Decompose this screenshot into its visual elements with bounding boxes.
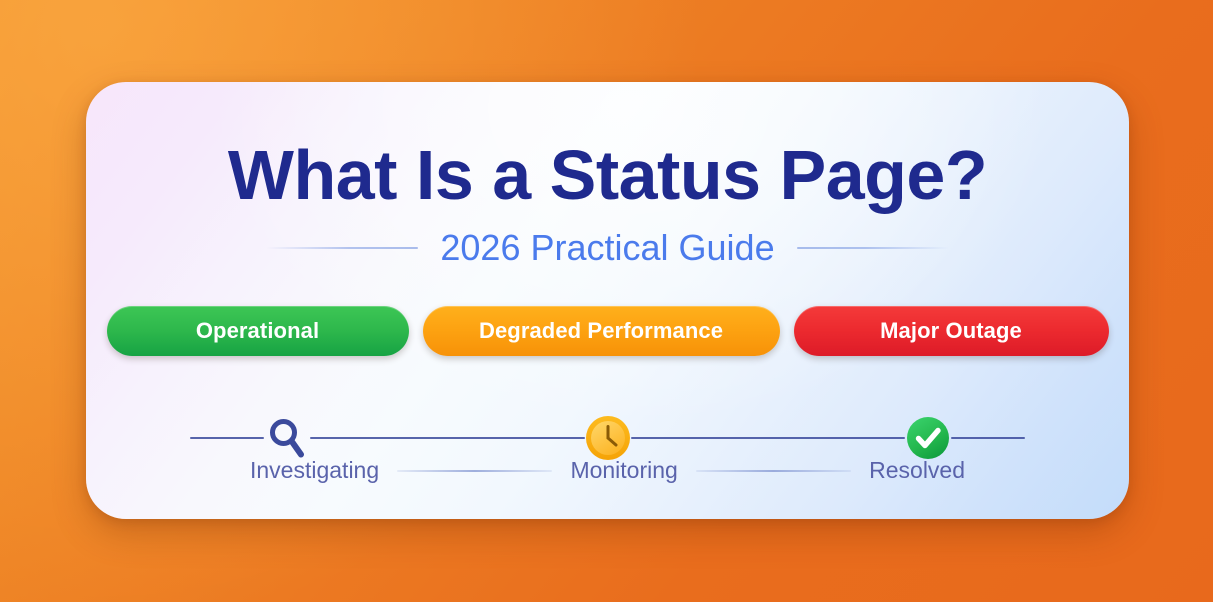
clock-icon <box>585 415 631 461</box>
magnifying-glass-icon <box>266 417 308 459</box>
incident-timeline: Investigating Monitoring Resolved <box>190 400 1025 504</box>
timeline-label-divider-1 <box>397 470 552 472</box>
page-subtitle: 2026 Practical Guide <box>440 230 774 266</box>
poster-canvas: What Is a Status Page? 2026 Practical Gu… <box>0 0 1213 602</box>
timeline-connector-2 <box>631 437 906 439</box>
timeline-connector-1 <box>310 437 585 439</box>
subtitle-divider-right <box>797 247 949 249</box>
status-badge-degraded-performance[interactable]: Degraded Performance <box>423 306 780 356</box>
status-badge-group: Operational Degraded Performance Major O… <box>86 306 1129 356</box>
timeline-track <box>190 415 1025 461</box>
timeline-label-monitoring: Monitoring <box>570 459 677 482</box>
subtitle-row: 2026 Practical Guide <box>86 230 1129 266</box>
status-badge-major-outage[interactable]: Major Outage <box>794 306 1109 356</box>
timeline-label-investigating: Investigating <box>250 459 379 482</box>
timeline-node-investigating[interactable] <box>264 415 310 461</box>
status-page-card: What Is a Status Page? 2026 Practical Gu… <box>86 82 1129 519</box>
status-badge-operational[interactable]: Operational <box>107 306 409 356</box>
subtitle-divider-left <box>266 247 418 249</box>
timeline-label-resolved: Resolved <box>869 459 965 482</box>
page-title: What Is a Status Page? <box>86 140 1129 210</box>
timeline-node-monitoring[interactable] <box>585 415 631 461</box>
timeline-node-resolved[interactable] <box>905 415 951 461</box>
check-circle-icon <box>906 416 950 460</box>
timeline-label-divider-2 <box>696 470 851 472</box>
timeline-connector-start <box>190 437 264 439</box>
timeline-label-row: Investigating Monitoring Resolved <box>190 459 1025 482</box>
timeline-connector-end <box>951 437 1025 439</box>
